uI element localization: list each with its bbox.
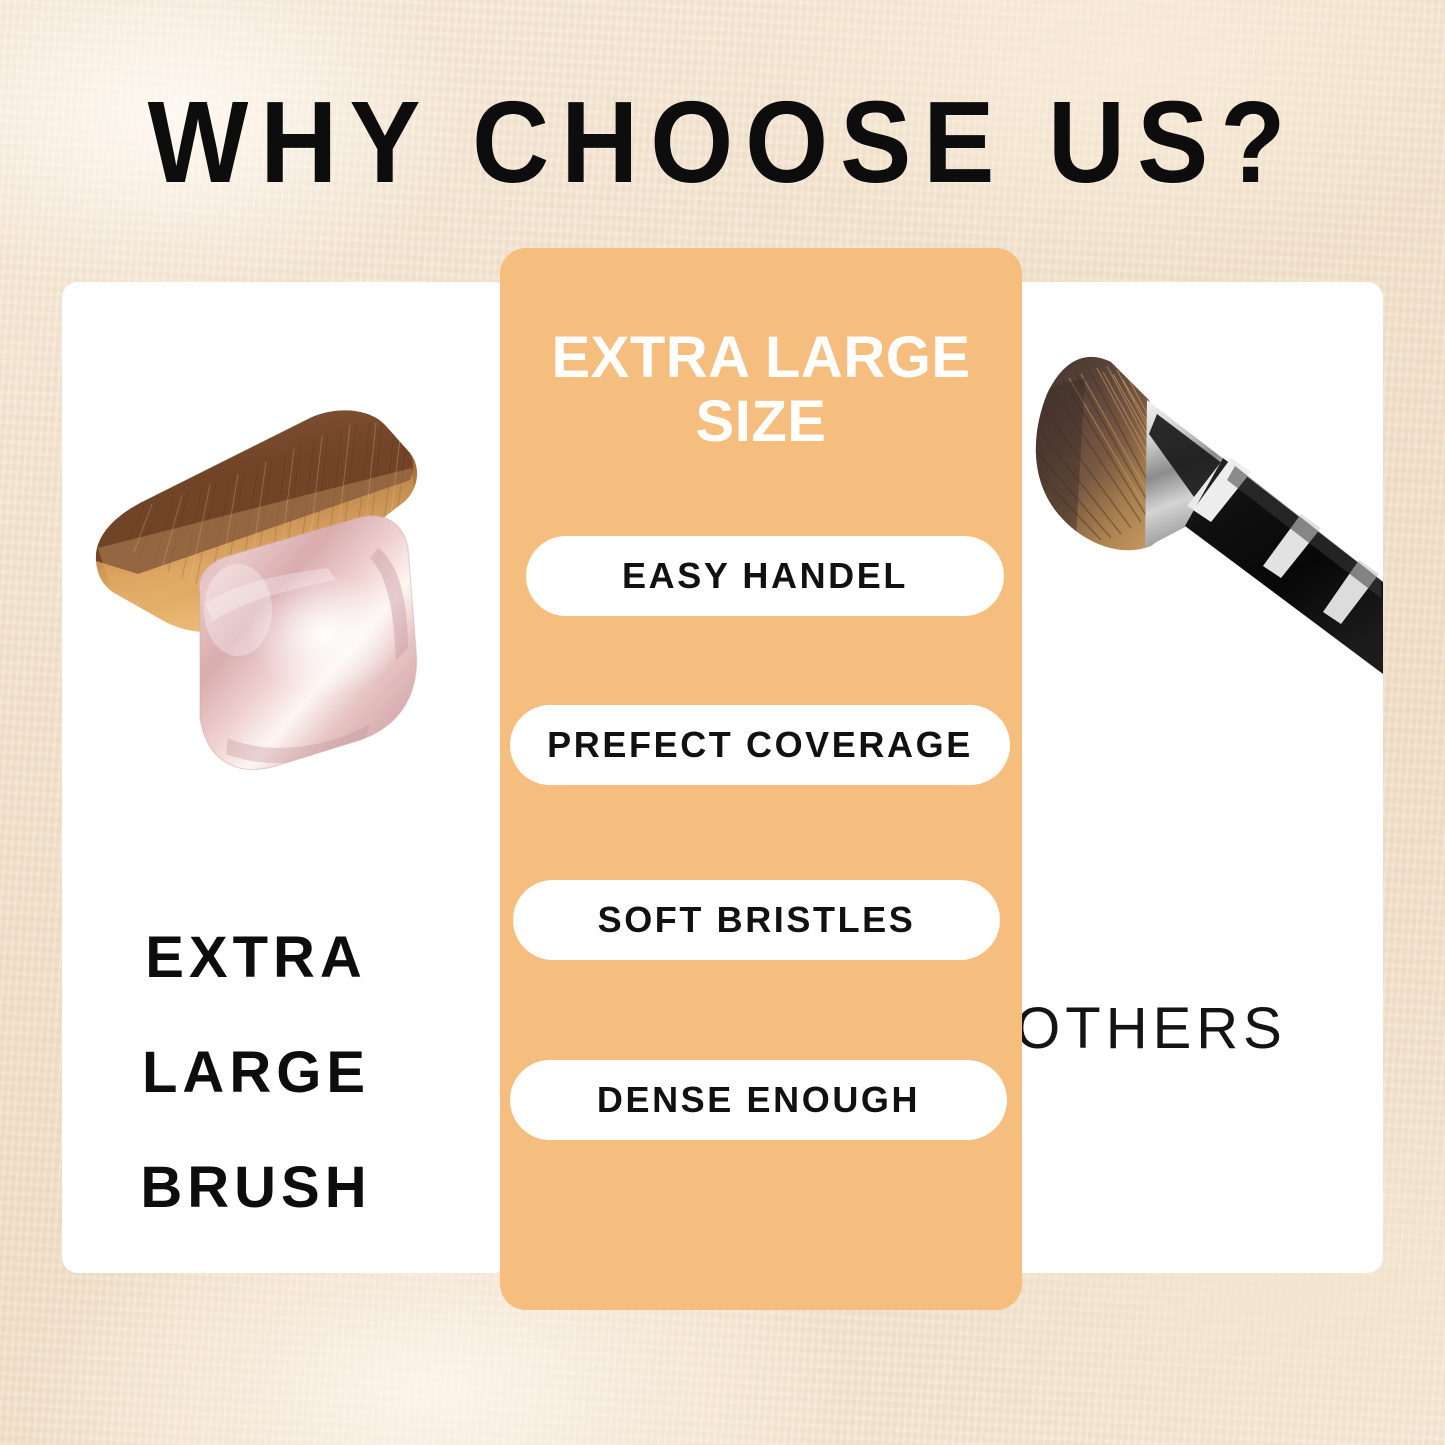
- left-label-line-1: EXTRA: [62, 900, 510, 1015]
- left-label-line-3: BRUSH: [62, 1130, 510, 1245]
- infographic-canvas: WHY CHOOSE US?: [0, 0, 1445, 1445]
- left-label-line-2: LARGE: [62, 1015, 510, 1130]
- powder-brush-handle: [1185, 458, 1383, 674]
- feature-pill-prefect-coverage: PREFECT COVERAGE: [510, 705, 1010, 785]
- left-column-label: EXTRA LARGE BRUSH: [62, 900, 510, 1245]
- center-panel-heading: EXTRA LARGE SIZE: [526, 326, 996, 454]
- feature-pill-soft-bristles: SOFT BRISTLES: [513, 880, 1000, 960]
- feature-pill-dense-enough: DENSE ENOUGH: [510, 1060, 1007, 1140]
- center-feature-panel: EXTRA LARGE SIZE EASY HANDEL PREFECT COV…: [500, 248, 1022, 1310]
- kabuki-brush-image: [78, 398, 450, 798]
- page-title: WHY CHOOSE US?: [58, 84, 1387, 200]
- feature-pill-easy-handel: EASY HANDEL: [526, 536, 1004, 616]
